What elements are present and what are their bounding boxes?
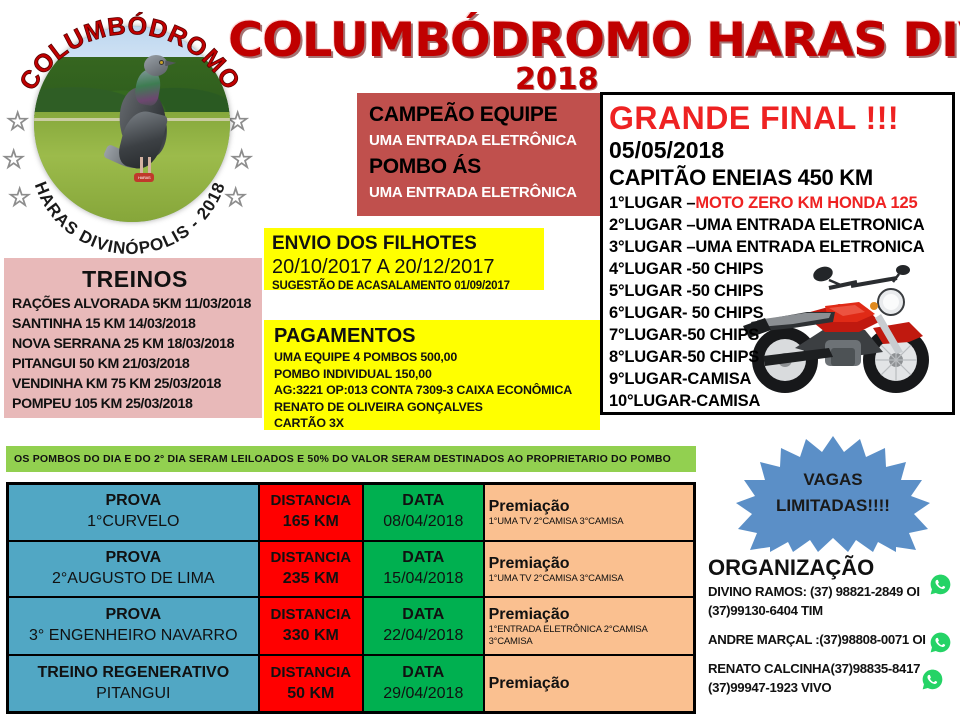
cell-data: DATA 08/04/2018	[363, 484, 484, 541]
distancia-value: 165 KM	[264, 511, 358, 533]
pagamentos-item: RENATO DE OLIVEIRA GONÇALVES	[274, 399, 600, 416]
final-prize-value: MOTO ZERO KM HONDA 125	[695, 194, 917, 212]
treinos-panel: TREINOS RAÇÕES ALVORADA 5KM 11/03/2018 S…	[4, 258, 262, 418]
cell-premiacao: Premiação 1°UMA TV 2°CAMISA 3°CAMISA	[484, 484, 695, 541]
treinos-item: VENDINHA KM 75 KM 25/03/2018	[12, 374, 258, 394]
cell-prova: PROVA 1°CURVELO	[8, 484, 259, 541]
premiacao-label: Premiação	[489, 605, 689, 624]
grande-final-location: CAPITÃO ENEIAS 450 KM	[609, 164, 952, 192]
final-prize-row: 9°LUGAR-CAMISA	[609, 368, 952, 390]
pombo-as-title: POMBO ÁS	[369, 153, 600, 181]
treinos-item: SANTINHA 15 KM 14/03/2018	[12, 314, 258, 334]
leilao-notice-banner: OS POMBOS DO DIA E DO 2° DIA SERAM LEILO…	[6, 446, 696, 472]
premiacao-value: 1°ENTRADA ELETRÔNICA 2°CAMISA 3°CAMISA	[489, 624, 689, 648]
vagas-limitadas-badge: VAGAS LIMITADAS!!!!	[718, 434, 948, 552]
provas-table: PROVA 1°CURVELO DISTANCIA 165 KM DATA 08…	[6, 482, 696, 714]
final-prize-row: 10°LUGAR-CAMISA	[609, 390, 952, 412]
cell-distancia: DISTANCIA 165 KM	[259, 484, 363, 541]
pagamentos-item: AG:3221 OP:013 CONTA 7309-3 CAIXA ECONÔM…	[274, 382, 600, 399]
data-label: DATA	[368, 548, 479, 568]
data-value: 15/04/2018	[368, 568, 479, 590]
treinos-title: TREINOS	[12, 264, 258, 294]
prova-label: PROVA	[13, 491, 254, 511]
svg-text:HARAS DIVINÓPOLIS - 2018: HARAS DIVINÓPOLIS - 2018	[31, 179, 229, 258]
whatsapp-icon[interactable]	[930, 632, 951, 653]
treinos-item: POMPEU 105 KM 25/03/2018	[12, 394, 258, 414]
premiacao-value: 1°UMA TV 2°CAMISA 3°CAMISA	[489, 573, 689, 585]
final-prize-row: 7°LUGAR-50 CHIPS	[609, 324, 952, 346]
data-label: DATA	[368, 491, 479, 511]
distancia-label: DISTANCIA	[264, 491, 358, 511]
cell-premiacao: Premiação 1°ENTRADA ELETRÔNICA 2°CAMISA …	[484, 597, 695, 655]
campeao-equipe-prize: UMA ENTRADA ELETRÔNICA	[369, 129, 600, 153]
leilao-notice-text: OS POMBOS DO DIA E DO 2° DIA SERAM LEILO…	[14, 453, 671, 465]
cell-prova: PROVA 2°AUGUSTO DE LIMA	[8, 541, 259, 598]
organizacao-contact: ANDRE MARÇAL :(37)98808-0071 OI	[708, 630, 960, 649]
premiacao-label: Premiação	[489, 497, 689, 516]
distancia-label: DISTANCIA	[264, 548, 358, 568]
prova-label: PROVA	[13, 605, 254, 625]
data-label: DATA	[368, 605, 479, 625]
premiacao-label: Premiação	[489, 554, 689, 573]
pagamentos-item: POMBO INDIVIDUAL 150,00	[274, 366, 600, 383]
envio-title: ENVIO DOS FILHOTES	[272, 232, 544, 255]
starburst-shape	[718, 434, 948, 552]
data-value: 08/04/2018	[368, 511, 479, 533]
grande-final-date: 05/05/2018	[609, 137, 952, 164]
pagamentos-panel: PAGAMENTOS UMA EQUIPE 4 POMBOS 500,00 PO…	[264, 320, 600, 430]
pombo-as-prize: UMA ENTRADA ELETRÔNICA	[369, 181, 600, 205]
premiacao-value: 1°UMA TV 2°CAMISA 3°CAMISA	[489, 516, 689, 528]
cell-premiacao: Premiação	[484, 655, 695, 712]
final-prize-row: 4°LUGAR -50 CHIPS	[609, 258, 952, 280]
final-prize-row: 6°LUGAR- 50 CHIPS	[609, 302, 952, 324]
organizacao-title: ORGANIZAÇÃO	[708, 554, 960, 582]
whatsapp-icon[interactable]	[922, 669, 943, 690]
final-prize-row: 3°LUGAR –UMA ENTRADA ELETRONICA	[609, 236, 952, 258]
pagamentos-item: CARTÃO 3X	[274, 415, 600, 432]
organizacao-contact: DIVINO RAMOS: (37) 98821-2849 OI	[708, 582, 960, 601]
treinos-item: RAÇÕES ALVORADA 5KM 11/03/2018	[12, 294, 258, 314]
page-title-year: 2018	[515, 62, 599, 97]
campeao-equipe-title: CAMPEÃO EQUIPE	[369, 101, 600, 129]
table-row: PROVA 3° ENGENHEIRO NAVARRO DISTANCIA 33…	[8, 597, 695, 655]
cell-prova: PROVA 3° ENGENHEIRO NAVARRO	[8, 597, 259, 655]
grande-final-panel: GRANDE FINAL !!! 05/05/2018 CAPITÃO ENEI…	[600, 92, 955, 415]
organizacao-contact: (37)99130-6404 TIM	[708, 601, 960, 620]
final-prize-row: 1°LUGAR –MOTO ZERO KM HONDA 125	[609, 192, 952, 214]
cell-distancia: DISTANCIA 330 KM	[259, 597, 363, 655]
cell-prova: TREINO REGENERATIVO PITANGUI	[8, 655, 259, 712]
logo-arc-bottom-text: HARAS DIVINÓPOLIS - 2018	[31, 179, 229, 258]
prova-value: 1°CURVELO	[13, 511, 254, 533]
cell-data: DATA 29/04/2018	[363, 655, 484, 712]
final-prize-row: 5°LUGAR -50 CHIPS	[609, 280, 952, 302]
svg-text:COLUMBÓDROMO: COLUMBÓDROMO	[14, 10, 245, 95]
cell-premiacao: Premiação 1°UMA TV 2°CAMISA 3°CAMISA	[484, 541, 695, 598]
data-value: 29/04/2018	[368, 683, 479, 705]
distancia-value: 235 KM	[264, 568, 358, 590]
treinos-item: NOVA SERRANA 25 KM 18/03/2018	[12, 334, 258, 354]
grande-final-title: GRANDE FINAL !!!	[609, 99, 952, 137]
prova-label: PROVA	[13, 548, 254, 568]
data-value: 22/04/2018	[368, 625, 479, 647]
envio-filhotes-panel: ENVIO DOS FILHOTES 20/10/2017 A 20/12/20…	[264, 228, 544, 290]
cell-distancia: DISTANCIA 235 KM	[259, 541, 363, 598]
distancia-label: DISTANCIA	[264, 605, 358, 625]
prova-value: 2°AUGUSTO DE LIMA	[13, 568, 254, 590]
cell-data: DATA 22/04/2018	[363, 597, 484, 655]
prova-value: PITANGUI	[13, 683, 254, 705]
treinos-item: PITANGUI 50 KM 21/03/2018	[12, 354, 258, 374]
envio-note: SUGESTÃO DE ACASALAMENTO 01/09/2017	[272, 279, 544, 294]
final-prize-place: 1°LUGAR –	[609, 194, 695, 212]
club-logo: ☆ ☆ ☆ ☆ ☆ ☆ HARAS	[4, 4, 256, 256]
distancia-label: DISTANCIA	[264, 663, 358, 683]
envio-date-range: 20/10/2017 A 20/12/2017	[272, 255, 544, 279]
organizacao-panel: ORGANIZAÇÃO DIVINO RAMOS: (37) 98821-284…	[708, 554, 960, 714]
poster-canvas: ☆ ☆ ☆ ☆ ☆ ☆ HARAS	[0, 0, 960, 720]
cell-distancia: DISTANCIA 50 KM	[259, 655, 363, 712]
pagamentos-title: PAGAMENTOS	[274, 323, 600, 349]
distancia-value: 330 KM	[264, 625, 358, 647]
campeao-equipe-panel: CAMPEÃO EQUIPE UMA ENTRADA ELETRÔNICA PO…	[357, 93, 600, 216]
table-row: PROVA 1°CURVELO DISTANCIA 165 KM DATA 08…	[8, 484, 695, 541]
table-row: TREINO REGENERATIVO PITANGUI DISTANCIA 5…	[8, 655, 695, 712]
table-row: PROVA 2°AUGUSTO DE LIMA DISTANCIA 235 KM…	[8, 541, 695, 598]
logo-arc-top-text: COLUMBÓDROMO	[14, 10, 245, 95]
data-label: DATA	[368, 663, 479, 683]
final-prize-row: 8°LUGAR-50 CHIPS	[609, 346, 952, 368]
pagamentos-item: UMA EQUIPE 4 POMBOS 500,00	[274, 349, 600, 366]
whatsapp-icon[interactable]	[930, 574, 951, 595]
distancia-value: 50 KM	[264, 683, 358, 705]
prova-value: 3° ENGENHEIRO NAVARRO	[13, 625, 254, 647]
cell-data: DATA 15/04/2018	[363, 541, 484, 598]
final-prize-row: 2°LUGAR –UMA ENTRADA ELETRONICA	[609, 214, 952, 236]
prova-label: TREINO REGENERATIVO	[13, 663, 254, 683]
premiacao-label: Premiação	[489, 674, 689, 693]
logo-arc-text: COLUMBÓDROMO HARAS DIVINÓPOLIS - 2018	[4, 4, 256, 256]
